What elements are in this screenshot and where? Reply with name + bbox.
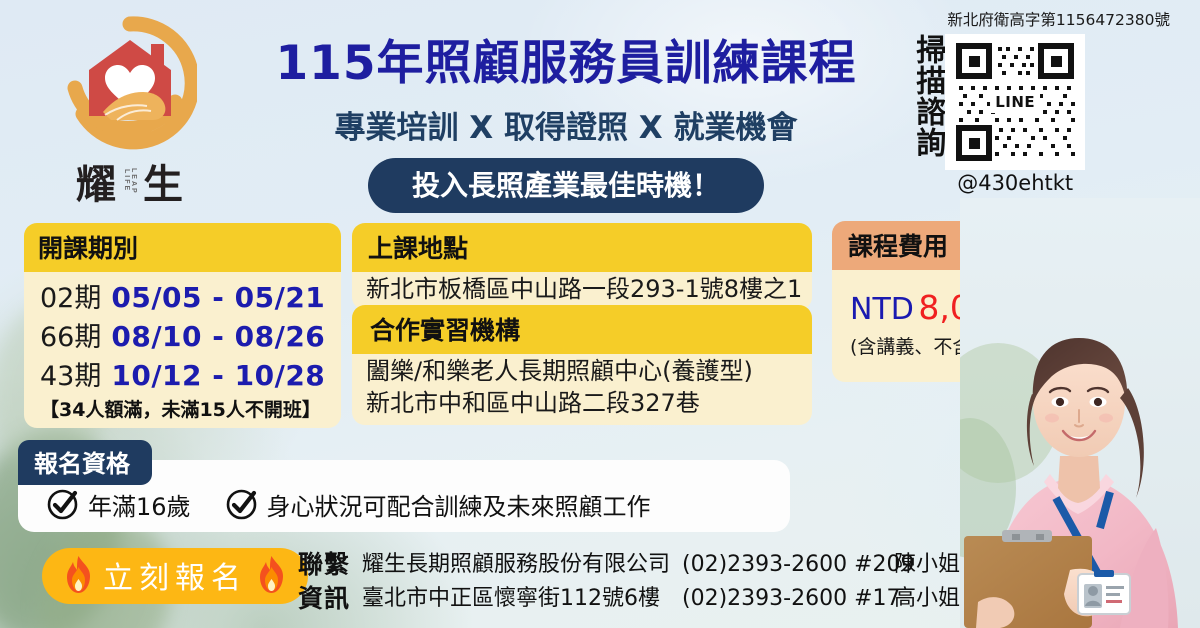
internship-address: 新北市中和區中山路二段327巷: [366, 388, 812, 420]
line-logo-label: LINE: [990, 91, 1040, 113]
location-card: 上課地點 新北市板橋區中山路一段293-1號8樓之1: [352, 223, 812, 310]
schedule-term: 02期: [40, 276, 101, 315]
schedule-card: 開課期別 02期 05/05 - 05/21 66期 08/10 - 08/26…: [24, 223, 341, 428]
fee-currency: NTD: [850, 292, 914, 327]
nurse-with-clipboard-photo: [960, 198, 1200, 628]
logo-name-cn-2: 生: [143, 152, 184, 210]
contact-phone[interactable]: (02)2393-2600 #17: [682, 582, 894, 616]
eligibility-text: 身心狀況可配合訓練及未來照顧工作: [267, 487, 651, 522]
schedule-row: 43期 10/12 - 10/28: [40, 354, 341, 393]
register-now-button[interactable]: 立刻報名: [42, 548, 308, 604]
eligibility-heading: 報名資格: [18, 440, 152, 485]
schedule-heading: 開課期別: [24, 223, 341, 272]
schedule-row: 02期 05/05 - 05/21: [40, 276, 341, 315]
contact-address: 臺北市中正區懷寧街112號6樓: [362, 582, 682, 616]
schedule-dates: 10/12 - 10/28: [111, 359, 325, 392]
qr-section[interactable]: 掃描諮詢: [912, 34, 1085, 204]
line-id: @430ehtkt: [957, 171, 1073, 195]
check-circle-icon: [225, 488, 258, 521]
page-subtitle: 專業培訓 X 取得證照 X 就業機會: [236, 102, 896, 147]
logo-name-en: LEAP LIFE: [123, 158, 137, 204]
tagline-banner: 投入長照產業最佳時機！: [368, 158, 764, 213]
permit-number: 新北府衛高字第1156472380號: [947, 8, 1170, 30]
schedule-row: 66期 08/10 - 08/26: [40, 315, 341, 354]
schedule-term: 66期: [40, 315, 101, 354]
brand-logo: 耀 LEAP LIFE 生: [38, 16, 222, 210]
location-heading: 上課地點: [352, 223, 812, 272]
contact-org: 耀生長期照顧服務股份有限公司: [362, 548, 682, 582]
contact-phone[interactable]: (02)2393-2600 #209: [682, 548, 894, 582]
check-circle-icon: [46, 488, 79, 521]
internship-card: 合作實習機構 闔樂/和樂老人長期照顧中心(養護型) 新北市中和區中山路二段327…: [352, 305, 812, 425]
schedule-term: 43期: [40, 354, 101, 393]
scan-label: 掃描諮詢: [912, 34, 943, 204]
schedule-dates: 05/05 - 05/21: [111, 281, 325, 314]
eligibility-text: 年滿16歲: [88, 487, 191, 522]
contact-section: 聯繫 資訊 耀生長期照顧服務股份有限公司 (02)2393-2600 #209 …: [298, 548, 960, 616]
contact-label-line1: 聯繫: [298, 548, 350, 582]
qr-code-icon[interactable]: LINE: [945, 34, 1085, 170]
hand-holding-house-heart-icon: [63, 16, 197, 150]
eligibility-item: 身心狀況可配合訓練及未來照顧工作: [225, 487, 651, 522]
internship-name: 闔樂/和樂老人長期照顧中心(養護型): [366, 356, 812, 388]
page-title: 115年照顧服務員訓練課程: [236, 24, 896, 93]
contact-person: 陳小姐: [894, 548, 960, 582]
register-now-label: 立刻報名: [103, 553, 247, 597]
logo-name-cn-1: 耀: [76, 152, 117, 210]
location-address: 新北市板橋區中山路一段293-1號8樓之1: [366, 274, 812, 306]
eligibility-item: 年滿16歲: [46, 487, 191, 522]
fire-icon: [60, 555, 97, 595]
contact-person: 高小姐: [894, 582, 960, 616]
headline-group: 115年照顧服務員訓練課程 專業培訓 X 取得證照 X 就業機會 投入長照產業最…: [236, 24, 896, 213]
internship-heading: 合作實習機構: [352, 305, 812, 354]
schedule-dates: 08/10 - 08/26: [111, 320, 325, 353]
poster-canvas: 耀 LEAP LIFE 生 115年照顧服務員訓練課程 專業培訓 X 取得證照 …: [0, 0, 1200, 628]
schedule-note: 【34人額滿，未滿15人不開班】: [40, 395, 341, 422]
fire-icon: [253, 555, 290, 595]
contact-label-line2: 資訊: [298, 582, 350, 616]
